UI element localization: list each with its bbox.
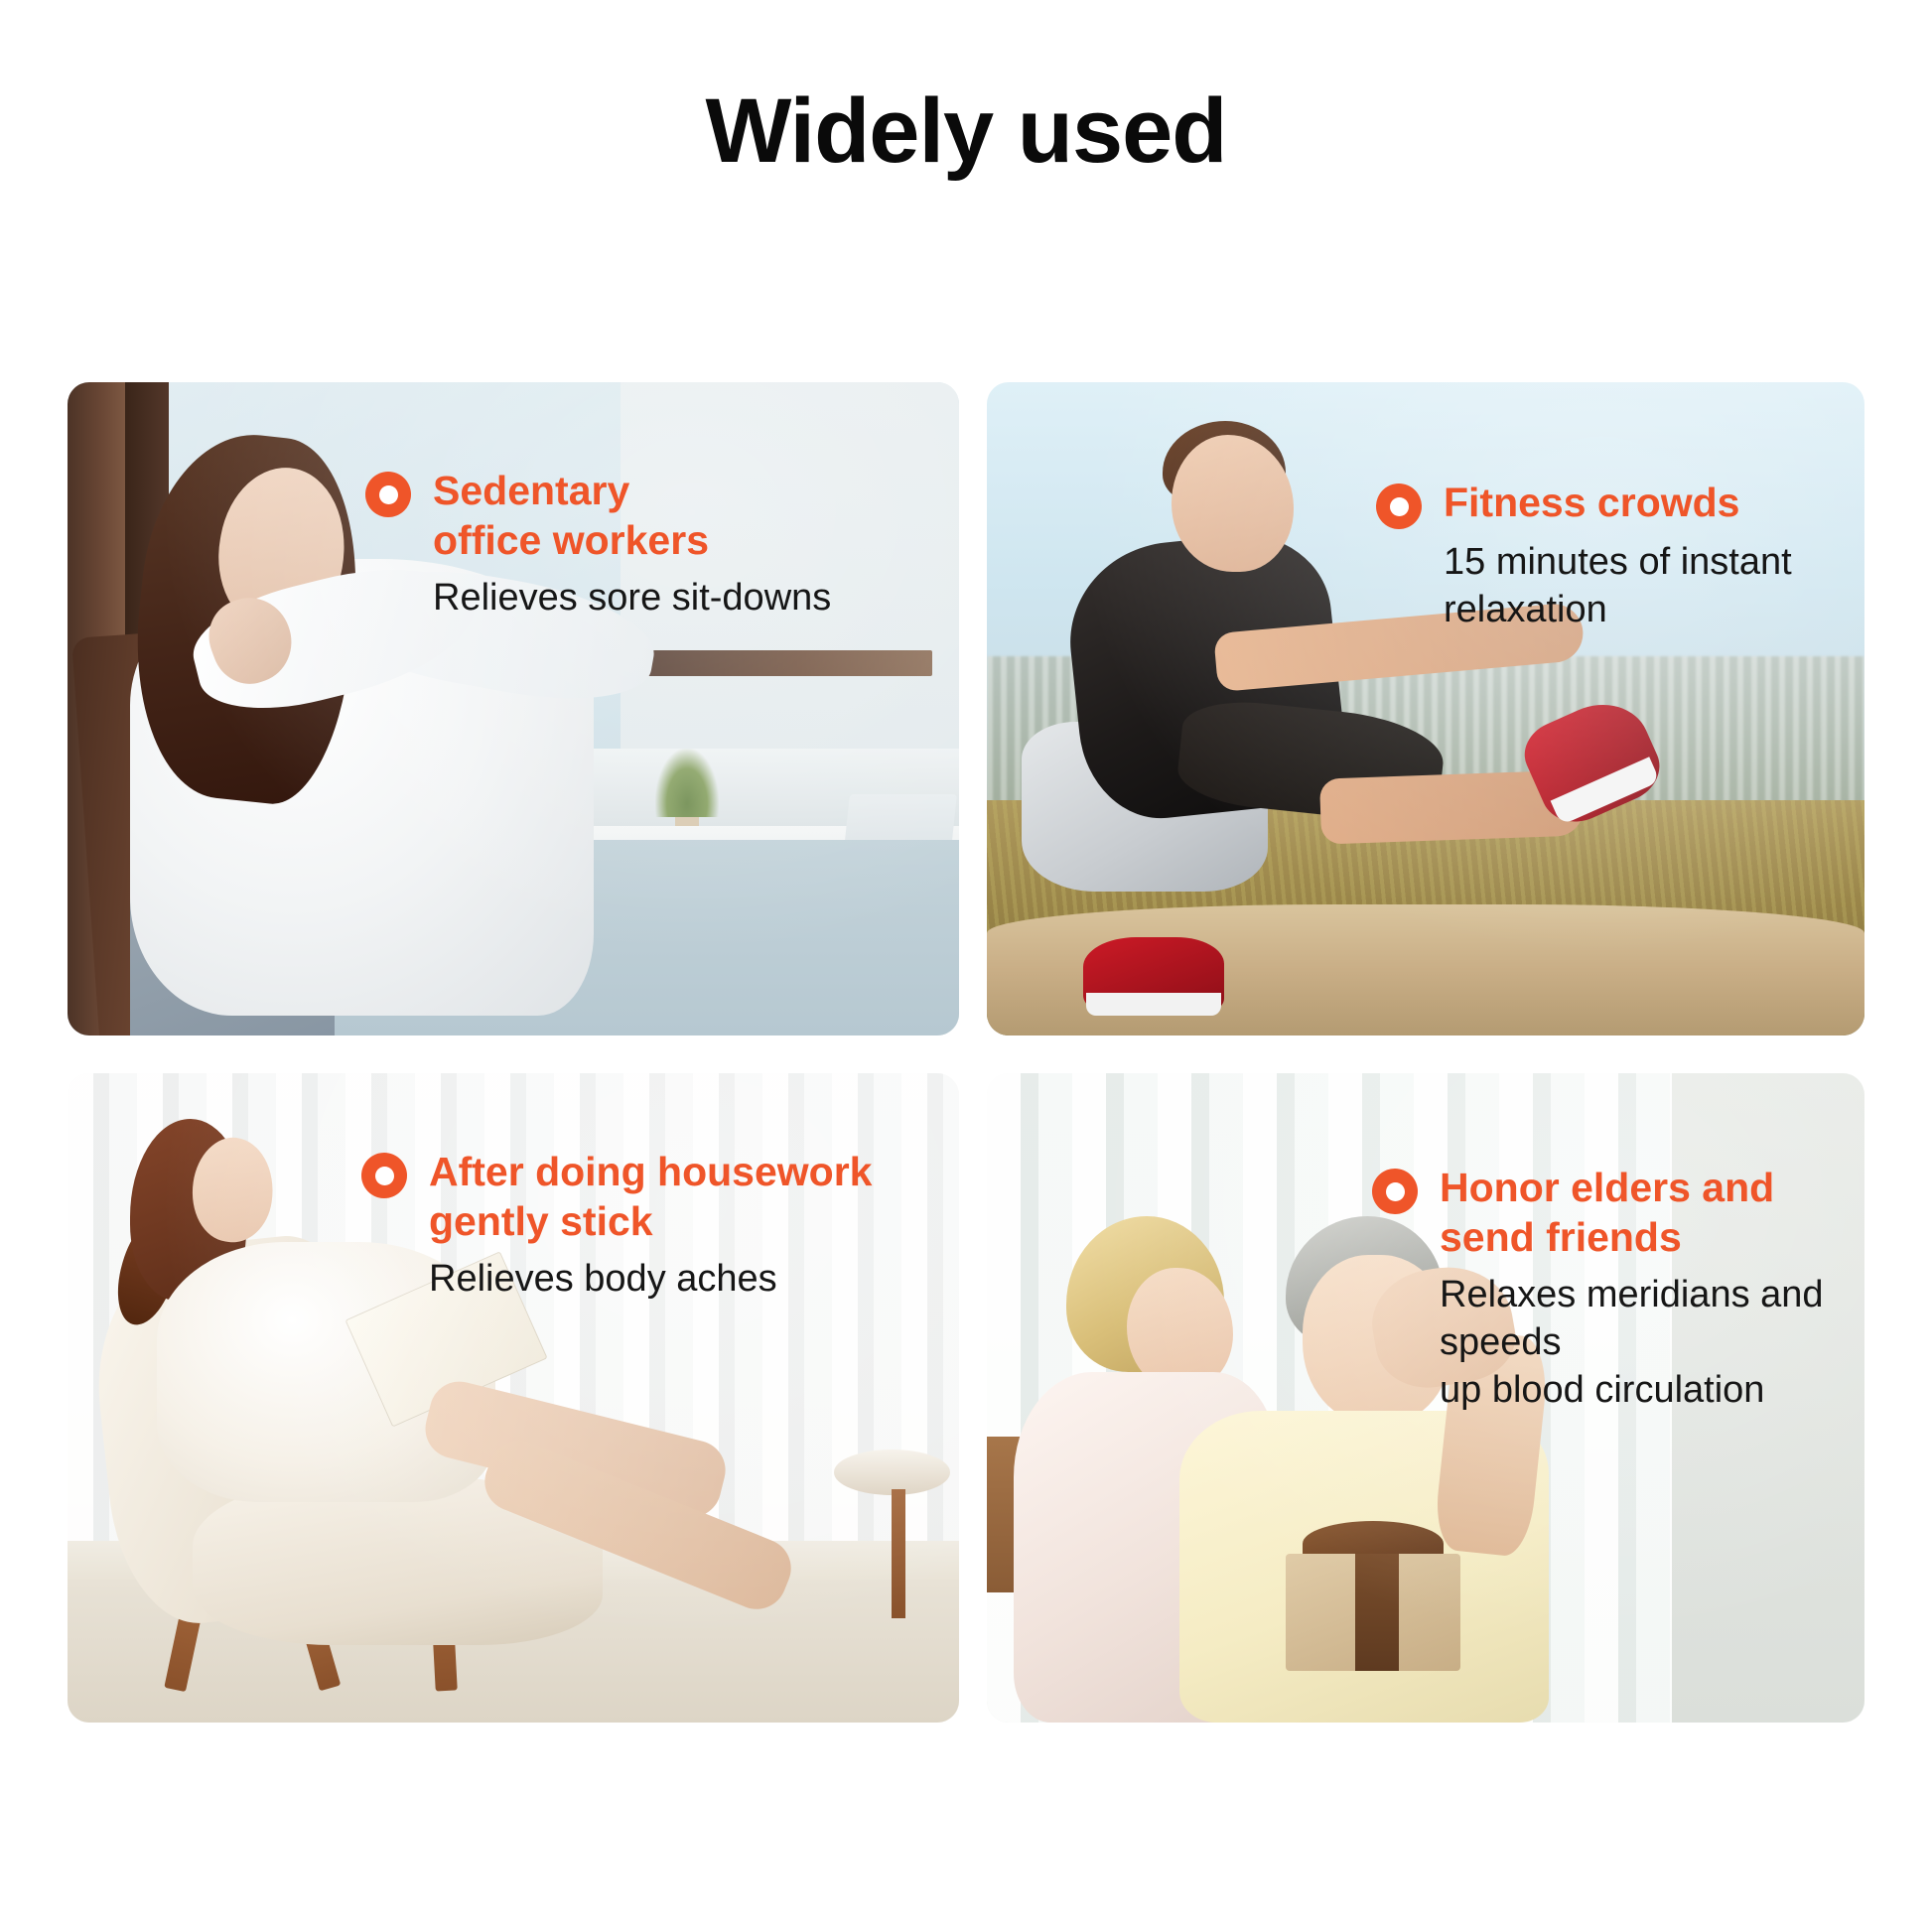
orange-ring-bullet-icon <box>361 1153 407 1198</box>
use-case-subtitle: 15 minutes of instant relaxation <box>1444 539 1843 634</box>
page-title: Widely used <box>0 85 1932 177</box>
caption-after-doing-housework: After doing housework gently stick Relie… <box>361 1147 957 1304</box>
use-case-card-sedentary-office-workers[interactable]: Sedentary office workers Relieves sore s… <box>68 382 959 1035</box>
use-case-subtitle: Relieves sore sit-downs <box>433 575 921 622</box>
orange-ring-bullet-icon <box>365 472 411 517</box>
use-case-card-honor-elders-send-friends[interactable]: Honor elders and send friends Relaxes me… <box>987 1073 1864 1723</box>
use-case-card-after-doing-housework[interactable]: After doing housework gently stick Relie… <box>68 1073 959 1723</box>
use-case-title: After doing housework gently stick <box>429 1149 872 1244</box>
caption-fitness-crowds: Fitness crowds 15 minutes of instant rel… <box>1376 478 1843 634</box>
use-case-card-fitness-crowds[interactable]: Fitness crowds 15 minutes of instant rel… <box>987 382 1864 1035</box>
orange-ring-bullet-icon <box>1372 1169 1418 1214</box>
use-case-grid: Sedentary office workers Relieves sore s… <box>68 382 1864 1723</box>
use-case-title: Fitness crowds <box>1444 480 1739 525</box>
caption-sedentary-office-workers: Sedentary office workers Relieves sore s… <box>365 466 921 622</box>
use-case-title: Sedentary office workers <box>433 468 709 563</box>
caption-honor-elders-send-friends: Honor elders and send friends Relaxes me… <box>1372 1163 1864 1415</box>
use-case-title: Honor elders and send friends <box>1440 1165 1774 1260</box>
use-case-subtitle: Relieves body aches <box>429 1256 957 1304</box>
orange-ring-bullet-icon <box>1376 483 1422 529</box>
use-case-subtitle: Relaxes meridians and speeds up blood ci… <box>1440 1272 1864 1415</box>
